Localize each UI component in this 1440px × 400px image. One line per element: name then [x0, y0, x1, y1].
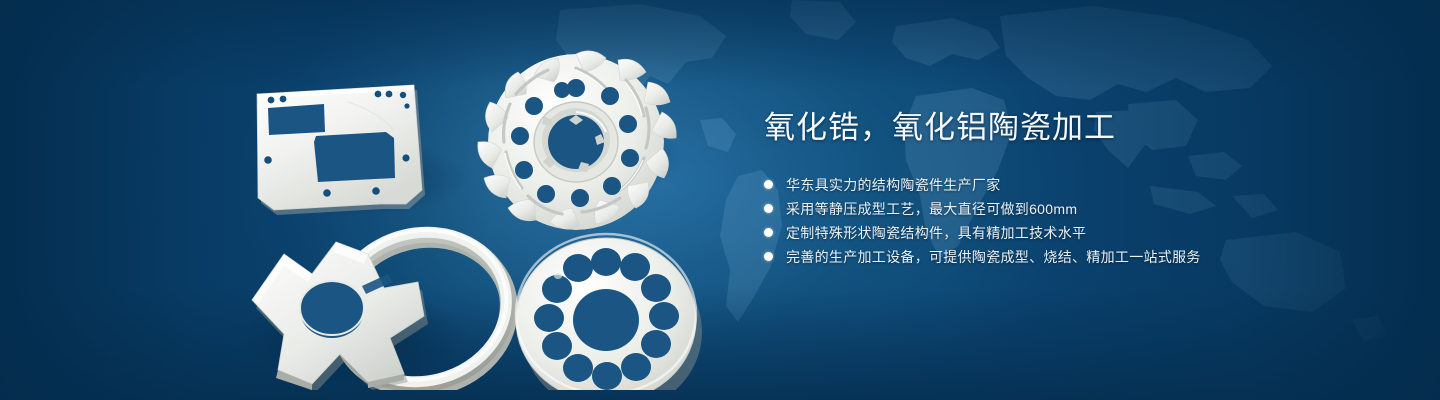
bullet-dot-icon — [764, 228, 773, 237]
ceramic-plate-part — [257, 85, 425, 215]
list-item-label: 采用等静压成型工艺，最大直径可做到600mm — [786, 199, 1077, 219]
banner-copy: 氧化锆，氧化铝陶瓷加工 华东具实力的结构陶瓷件生产厂家 采用等静压成型工艺，最大… — [764, 108, 1324, 269]
bullet-dot-icon — [764, 180, 773, 189]
bullet-dot-icon — [764, 204, 773, 213]
list-item: 完善的生产加工设备，可提供陶瓷成型、烧结、精加工一站式服务 — [764, 245, 1324, 268]
list-item-label: 华东具实力的结构陶瓷件生产厂家 — [786, 175, 1001, 195]
ceramic-impeller-part — [478, 51, 676, 230]
ceramic-ring-disc-part — [516, 234, 702, 390]
ceramic-cross-part — [252, 212, 525, 390]
list-item: 采用等静压成型工艺，最大直径可做到600mm — [764, 197, 1324, 220]
feature-list: 华东具实力的结构陶瓷件生产厂家 采用等静压成型工艺，最大直径可做到600mm 定… — [764, 173, 1324, 268]
promo-banner: 氧化锆，氧化铝陶瓷加工 华东具实力的结构陶瓷件生产厂家 采用等静压成型工艺，最大… — [0, 0, 1440, 400]
list-item: 定制特殊形状陶瓷结构件，具有精加工技术水平 — [764, 221, 1324, 244]
ceramic-products-photo — [228, 38, 704, 390]
page-title: 氧化锆，氧化铝陶瓷加工 — [764, 108, 1324, 148]
list-item-label: 完善的生产加工设备，可提供陶瓷成型、烧结、精加工一站式服务 — [786, 247, 1201, 267]
list-item-label: 定制特殊形状陶瓷结构件，具有精加工技术水平 — [786, 223, 1086, 243]
bullet-dot-icon — [764, 252, 773, 261]
list-item: 华东具实力的结构陶瓷件生产厂家 — [764, 173, 1324, 196]
